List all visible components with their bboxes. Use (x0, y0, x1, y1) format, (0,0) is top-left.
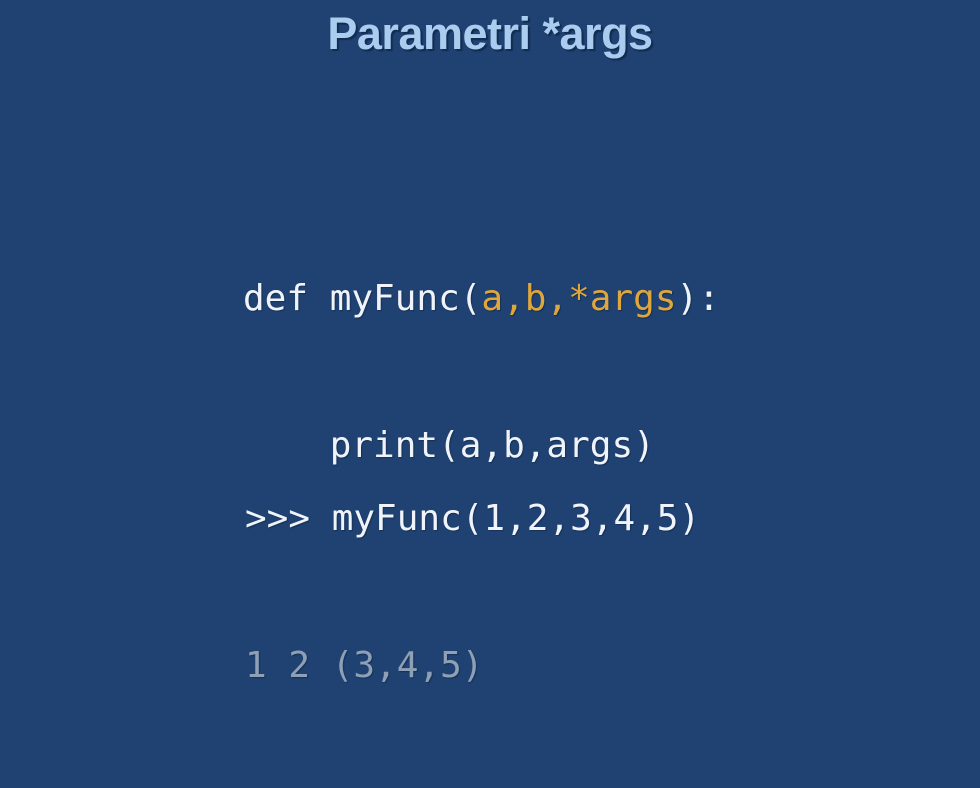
code-line-1: def myFunc(a,b,*args): (243, 274, 720, 323)
code-token-def-myfunc: def myFunc( (243, 278, 481, 319)
code-token-params: a,b,*args (481, 278, 676, 319)
code-token-colon: ): (677, 278, 720, 319)
slide-canvas: Parametri *args def myFunc(a,b,*args): p… (0, 0, 980, 519)
repl-output-line: 1 2 (3,4,5) (245, 641, 700, 690)
repl-block: >>> myFunc(1,2,3,4,5) 1 2 (3,4,5) (245, 396, 700, 788)
page-title: Parametri *args (0, 8, 980, 60)
